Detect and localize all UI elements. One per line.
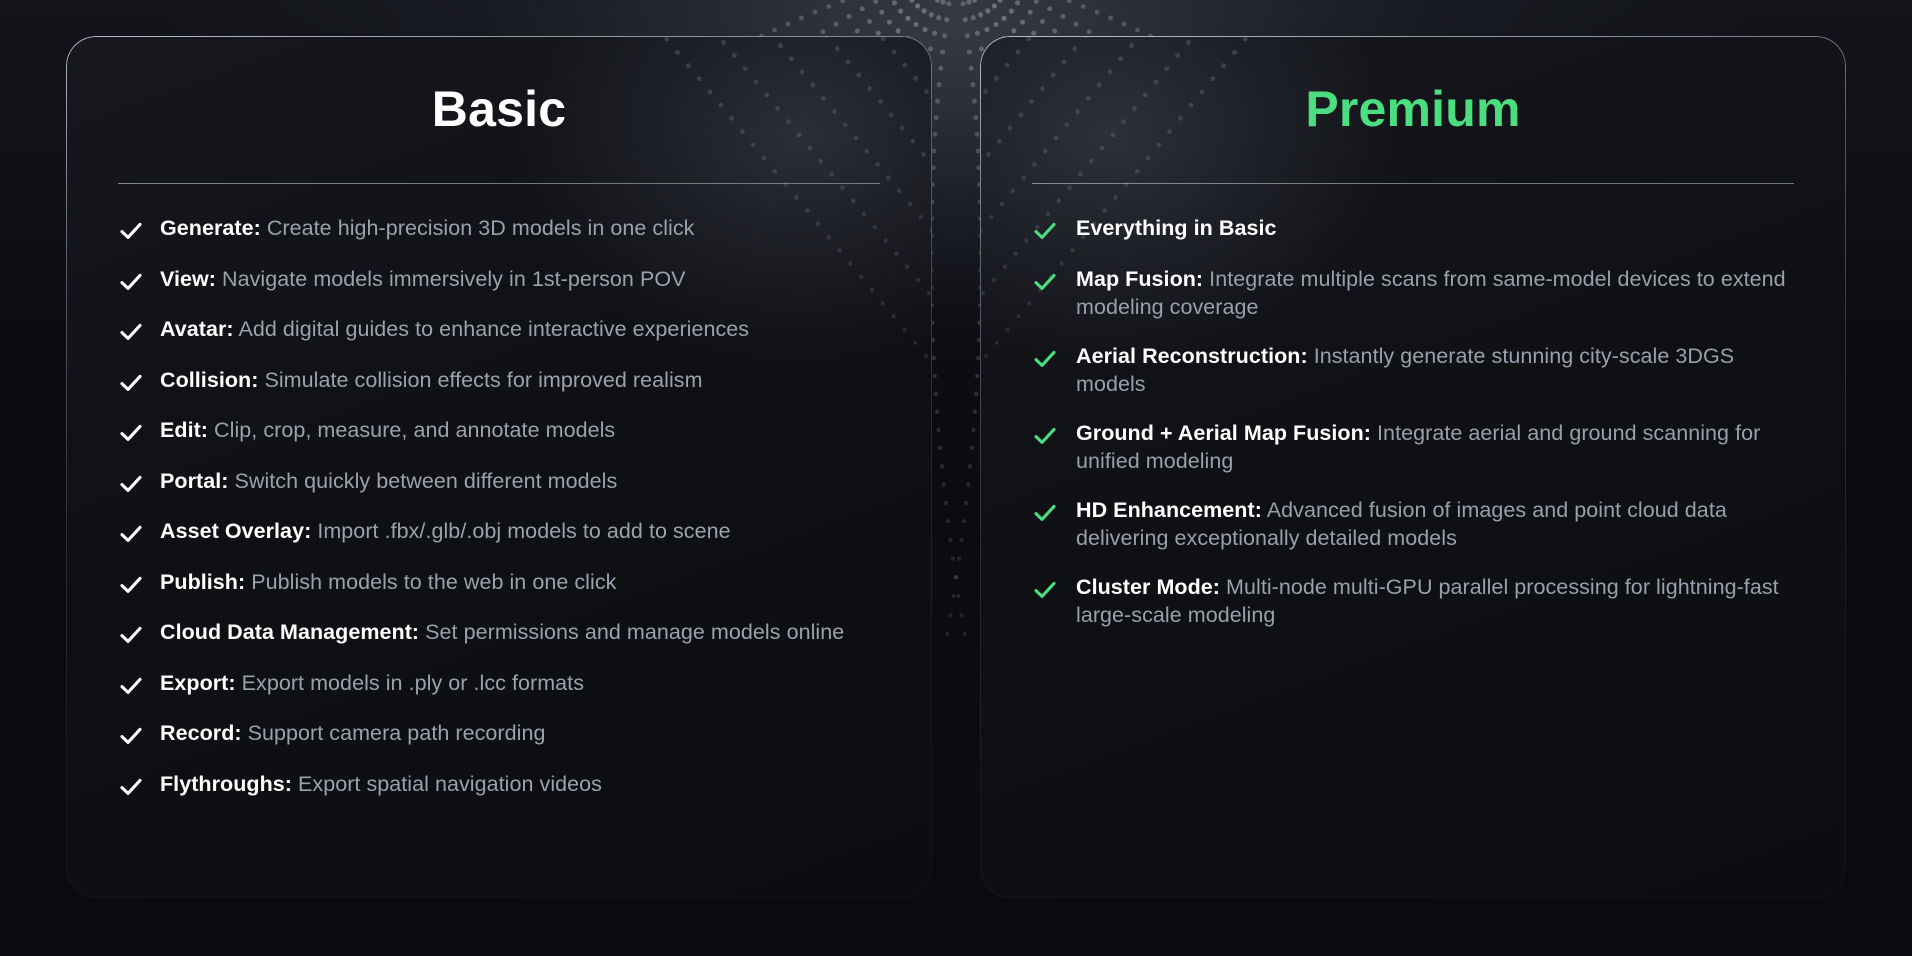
feature-item: Everything in Basic bbox=[1032, 214, 1794, 244]
check-icon bbox=[1032, 423, 1058, 449]
plan-card-basic: Basic Generate: Create high-precision 3D… bbox=[66, 36, 932, 898]
feature-text: Collision: Simulate collision effects fo… bbox=[160, 366, 703, 395]
feature-description: Clip, crop, measure, and annotate models bbox=[208, 418, 615, 442]
feature-text: View: Navigate models immersively in 1st… bbox=[160, 265, 686, 294]
feature-name: Avatar: bbox=[160, 317, 234, 341]
feature-text: Asset Overlay: Import .fbx/.glb/.obj mod… bbox=[160, 517, 731, 546]
feature-item: Map Fusion: Integrate multiple scans fro… bbox=[1032, 265, 1794, 321]
pricing-comparison: Basic Generate: Create high-precision 3D… bbox=[0, 0, 1912, 956]
feature-item: Record: Support camera path recording bbox=[118, 719, 880, 749]
check-icon bbox=[118, 521, 144, 547]
check-icon bbox=[1032, 500, 1058, 526]
feature-text: Publish: Publish models to the web in on… bbox=[160, 568, 616, 597]
feature-name: Cluster Mode: bbox=[1076, 575, 1220, 599]
check-icon bbox=[1032, 269, 1058, 295]
check-icon bbox=[1032, 218, 1058, 244]
feature-item: Avatar: Add digital guides to enhance in… bbox=[118, 315, 880, 345]
feature-item: Asset Overlay: Import .fbx/.glb/.obj mod… bbox=[118, 517, 880, 547]
feature-name: Publish: bbox=[160, 570, 245, 594]
feature-list-basic: Generate: Create high-precision 3D model… bbox=[118, 214, 880, 820]
feature-name: Aerial Reconstruction: bbox=[1076, 344, 1308, 368]
feature-description: Add digital guides to enhance interactiv… bbox=[234, 317, 749, 341]
page-title-basic: Basic bbox=[118, 84, 880, 134]
feature-name: View: bbox=[160, 267, 216, 291]
check-icon bbox=[118, 420, 144, 446]
feature-name: Ground + Aerial Map Fusion: bbox=[1076, 421, 1371, 445]
feature-item: Generate: Create high-precision 3D model… bbox=[118, 214, 880, 244]
check-icon bbox=[1032, 577, 1058, 603]
check-icon bbox=[118, 218, 144, 244]
feature-item: Portal: Switch quickly between different… bbox=[118, 467, 880, 497]
feature-name: HD Enhancement: bbox=[1076, 498, 1262, 522]
feature-item: HD Enhancement: Advanced fusion of image… bbox=[1032, 496, 1794, 552]
feature-text: Avatar: Add digital guides to enhance in… bbox=[160, 315, 749, 344]
title-divider bbox=[1032, 183, 1794, 184]
feature-name: Export: bbox=[160, 671, 236, 695]
feature-text: Cloud Data Management: Set permissions a… bbox=[160, 618, 844, 647]
check-icon bbox=[118, 723, 144, 749]
feature-text: Map Fusion: Integrate multiple scans fro… bbox=[1076, 265, 1794, 321]
feature-name: Map Fusion: bbox=[1076, 267, 1203, 291]
feature-name: Edit: bbox=[160, 418, 208, 442]
check-icon bbox=[118, 774, 144, 800]
check-icon bbox=[118, 471, 144, 497]
feature-description: Export models in .ply or .lcc formats bbox=[236, 671, 584, 695]
feature-name: Collision: bbox=[160, 368, 258, 392]
check-icon bbox=[1032, 346, 1058, 372]
feature-text: Export: Export models in .ply or .lcc fo… bbox=[160, 669, 584, 698]
feature-text: HD Enhancement: Advanced fusion of image… bbox=[1076, 496, 1794, 552]
feature-name: Cloud Data Management: bbox=[160, 620, 419, 644]
feature-text: Ground + Aerial Map Fusion: Integrate ae… bbox=[1076, 419, 1794, 475]
title-divider bbox=[118, 183, 880, 184]
feature-description: Publish models to the web in one click bbox=[245, 570, 616, 594]
feature-description: Support camera path recording bbox=[242, 721, 546, 745]
feature-text: Flythroughs: Export spatial navigation v… bbox=[160, 770, 602, 799]
feature-list-premium: Everything in BasicMap Fusion: Integrate… bbox=[1032, 214, 1794, 650]
feature-item: Publish: Publish models to the web in on… bbox=[118, 568, 880, 598]
feature-text: Edit: Clip, crop, measure, and annotate … bbox=[160, 416, 615, 445]
feature-name: Asset Overlay: bbox=[160, 519, 311, 543]
feature-name: Record: bbox=[160, 721, 242, 745]
check-icon bbox=[118, 370, 144, 396]
feature-item: Flythroughs: Export spatial navigation v… bbox=[118, 770, 880, 800]
feature-name: Portal: bbox=[160, 469, 228, 493]
feature-description: Switch quickly between different models bbox=[228, 469, 617, 493]
check-icon bbox=[118, 622, 144, 648]
feature-name: Flythroughs: bbox=[160, 772, 292, 796]
feature-description: Navigate models immersively in 1st-perso… bbox=[216, 267, 686, 291]
feature-text: Record: Support camera path recording bbox=[160, 719, 545, 748]
check-icon bbox=[118, 269, 144, 295]
feature-name: Everything in Basic bbox=[1076, 216, 1277, 240]
page-title-premium: Premium bbox=[1032, 84, 1794, 134]
plan-card-premium: Premium Everything in BasicMap Fusion: I… bbox=[980, 36, 1846, 898]
feature-item: Cloud Data Management: Set permissions a… bbox=[118, 618, 880, 648]
check-icon bbox=[118, 572, 144, 598]
feature-text: Generate: Create high-precision 3D model… bbox=[160, 214, 694, 243]
feature-item: Ground + Aerial Map Fusion: Integrate ae… bbox=[1032, 419, 1794, 475]
feature-description: Import .fbx/.glb/.obj models to add to s… bbox=[311, 519, 730, 543]
feature-description: Set permissions and manage models online bbox=[419, 620, 844, 644]
feature-item: Collision: Simulate collision effects fo… bbox=[118, 366, 880, 396]
feature-item: Cluster Mode: Multi-node multi-GPU paral… bbox=[1032, 573, 1794, 629]
feature-item: Edit: Clip, crop, measure, and annotate … bbox=[118, 416, 880, 446]
feature-description: Export spatial navigation videos bbox=[292, 772, 602, 796]
feature-text: Portal: Switch quickly between different… bbox=[160, 467, 617, 496]
feature-description: Simulate collision effects for improved … bbox=[258, 368, 702, 392]
feature-item: View: Navigate models immersively in 1st… bbox=[118, 265, 880, 295]
feature-text: Everything in Basic bbox=[1076, 214, 1277, 243]
feature-description: Create high-precision 3D models in one c… bbox=[261, 216, 695, 240]
check-icon bbox=[118, 319, 144, 345]
feature-text: Aerial Reconstruction: Instantly generat… bbox=[1076, 342, 1794, 398]
check-icon bbox=[118, 673, 144, 699]
feature-item: Export: Export models in .ply or .lcc fo… bbox=[118, 669, 880, 699]
feature-item: Aerial Reconstruction: Instantly generat… bbox=[1032, 342, 1794, 398]
feature-text: Cluster Mode: Multi-node multi-GPU paral… bbox=[1076, 573, 1794, 629]
feature-name: Generate: bbox=[160, 216, 261, 240]
